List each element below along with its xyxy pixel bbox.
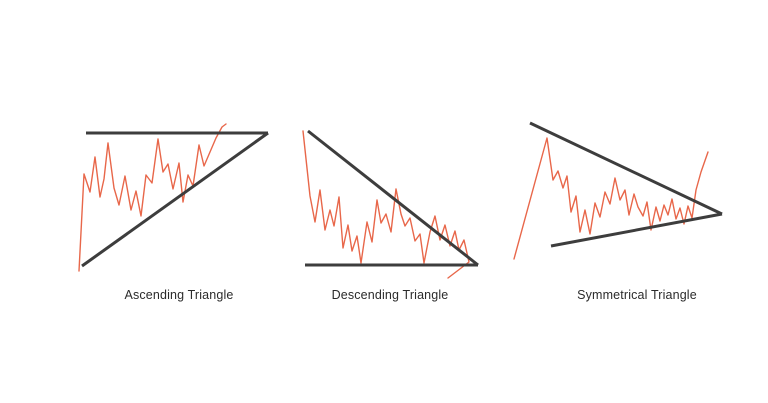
pattern-groups xyxy=(79,123,722,278)
trendline-support-ascending xyxy=(551,214,722,246)
pattern-label-symmetrical: Symmetrical Triangle xyxy=(577,288,697,302)
pattern-label-descending: Descending Triangle xyxy=(332,288,449,302)
trendline-resistance-descending xyxy=(308,131,478,265)
pattern-ascending-triangle xyxy=(79,124,268,271)
pattern-label-ascending: Ascending Triangle xyxy=(124,288,233,302)
chart-patterns-figure: Ascending TriangleDescending TriangleSym… xyxy=(0,0,768,403)
pattern-labels: Ascending TriangleDescending TriangleSym… xyxy=(124,288,696,302)
price-series-price-action xyxy=(303,131,469,278)
price-series-price-action xyxy=(514,138,708,259)
pattern-descending-triangle xyxy=(303,131,478,278)
price-series-price-action xyxy=(79,124,226,271)
triangle-patterns-diagram: Ascending TriangleDescending TriangleSym… xyxy=(0,0,768,403)
pattern-symmetrical-triangle xyxy=(514,123,722,259)
